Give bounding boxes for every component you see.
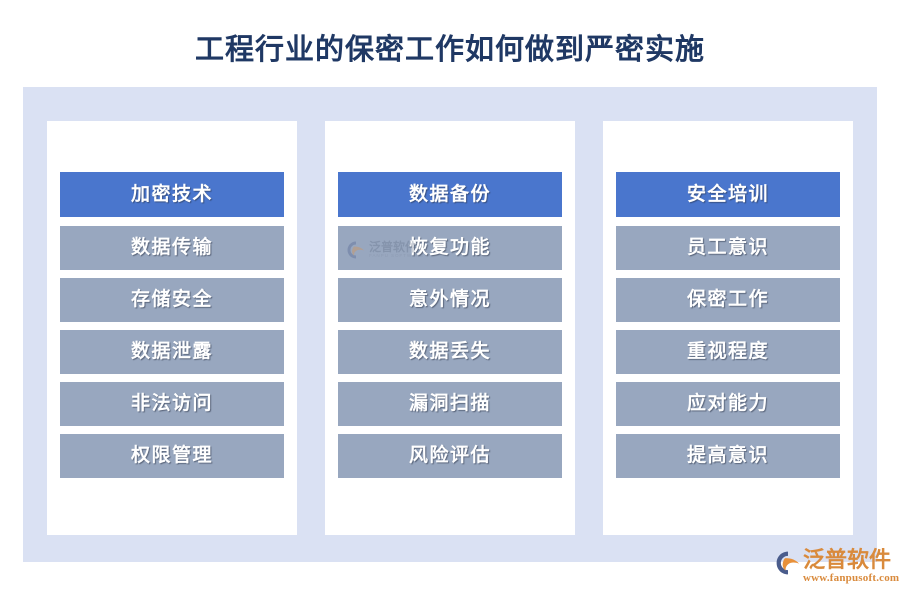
- fanpu-brand-logo: 泛普软件 www.fanpusoft.com: [775, 548, 893, 592]
- column-2-header[interactable]: 数据备份: [338, 172, 562, 217]
- column-3-item-5[interactable]: 提高意识: [616, 434, 840, 478]
- column-2-item-2[interactable]: 意外情况: [338, 278, 562, 322]
- columns-container: 加密技术 数据传输 存储安全 数据泄露 非法访问 权限管理 数据备份 恢复功能 …: [47, 121, 853, 535]
- fanpu-brand-url: www.fanpusoft.com: [803, 572, 899, 585]
- column-card-1: 加密技术 数据传输 存储安全 数据泄露 非法访问 权限管理: [47, 121, 297, 535]
- column-2-item-1[interactable]: 恢复功能: [338, 226, 562, 270]
- column-1-item-2[interactable]: 存储安全: [60, 278, 284, 322]
- column-1-item-4[interactable]: 非法访问: [60, 382, 284, 426]
- column-card-2: 数据备份 恢复功能 意外情况 数据丢失 漏洞扫描 风险评估: [325, 121, 575, 535]
- column-3-item-3[interactable]: 重视程度: [616, 330, 840, 374]
- column-2-item-5[interactable]: 风险评估: [338, 434, 562, 478]
- column-1-item-1[interactable]: 数据传输: [60, 226, 284, 270]
- column-3-item-1[interactable]: 员工意识: [616, 226, 840, 270]
- column-2-item-4[interactable]: 漏洞扫描: [338, 382, 562, 426]
- column-3-header[interactable]: 安全培训: [616, 172, 840, 217]
- column-3-item-4[interactable]: 应对能力: [616, 382, 840, 426]
- column-1-item-3[interactable]: 数据泄露: [60, 330, 284, 374]
- column-card-3: 安全培训 员工意识 保密工作 重视程度 应对能力 提高意识: [603, 121, 853, 535]
- column-3-item-2[interactable]: 保密工作: [616, 278, 840, 322]
- fanpu-brand-text: 泛普软件 www.fanpusoft.com: [803, 548, 899, 585]
- column-1-header[interactable]: 加密技术: [60, 172, 284, 217]
- fanpu-brand-name: 泛普软件: [803, 548, 899, 572]
- column-2-item-3[interactable]: 数据丢失: [338, 330, 562, 374]
- column-1-item-5[interactable]: 权限管理: [60, 434, 284, 478]
- page-title: 工程行业的保密工作如何做到严密实施: [0, 26, 900, 68]
- fanpu-logo-mark-icon: [775, 550, 801, 576]
